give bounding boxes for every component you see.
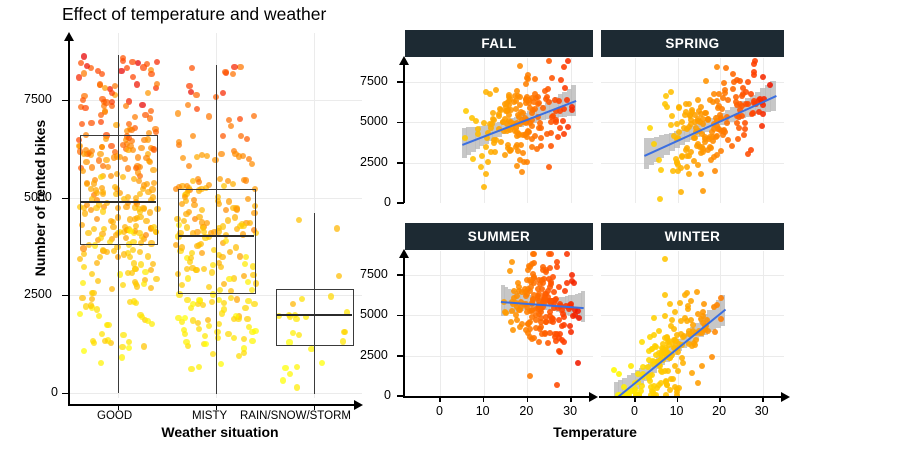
right-xtick-0	[634, 396, 636, 402]
right-ytick-5000	[397, 315, 404, 317]
right-xtick-20	[527, 396, 529, 402]
right-xtick-20	[719, 396, 721, 402]
right-ytick-label-5000: 5000	[360, 307, 388, 321]
right-ytick-0	[397, 202, 404, 204]
right-xtick-label-30: 30	[755, 404, 769, 418]
right-ytick-2500	[397, 162, 404, 164]
right-ytick-label-7500: 7500	[360, 74, 388, 88]
right-xtick-10	[483, 396, 485, 402]
right-ytick-5000	[397, 122, 404, 124]
right-ytick-2500	[397, 355, 404, 357]
right-ytick-label-2500: 2500	[360, 155, 388, 169]
legend: Temp [C] 3020100	[790, 130, 900, 330]
legend-ticks: 3020100	[790, 130, 900, 330]
right-facet-grid: FALL SPRING SUMMER WINTER Temperature	[0, 0, 800, 450]
right-xtick-label-0: 0	[436, 404, 443, 418]
right-xtick-0	[439, 396, 441, 402]
figure-canvas: Effect of temperature and weather Number…	[0, 0, 900, 450]
right-ytick-7500	[397, 81, 404, 83]
right-axes-decorations: 7500500025000750050002500001020300102030	[0, 0, 800, 450]
right-ytick-0	[397, 395, 404, 397]
right-ytick-label-5000: 5000	[360, 114, 388, 128]
right-xtick-label-30: 30	[563, 404, 577, 418]
right-xtick-label-10: 10	[670, 404, 684, 418]
right-xtick-label-0: 0	[631, 404, 638, 418]
right-ytick-label-0: 0	[384, 388, 391, 402]
right-ytick-label-0: 0	[384, 195, 391, 209]
right-xtick-label-20: 20	[519, 404, 533, 418]
right-ytick-label-7500: 7500	[360, 267, 388, 281]
right-ytick-7500	[397, 274, 404, 276]
right-ytick-label-2500: 2500	[360, 348, 388, 362]
right-xtick-label-10: 10	[476, 404, 490, 418]
right-xtick-10	[677, 396, 679, 402]
right-xtick-label-20: 20	[712, 404, 726, 418]
right-xtick-30	[762, 396, 764, 402]
right-xtick-30	[570, 396, 572, 402]
